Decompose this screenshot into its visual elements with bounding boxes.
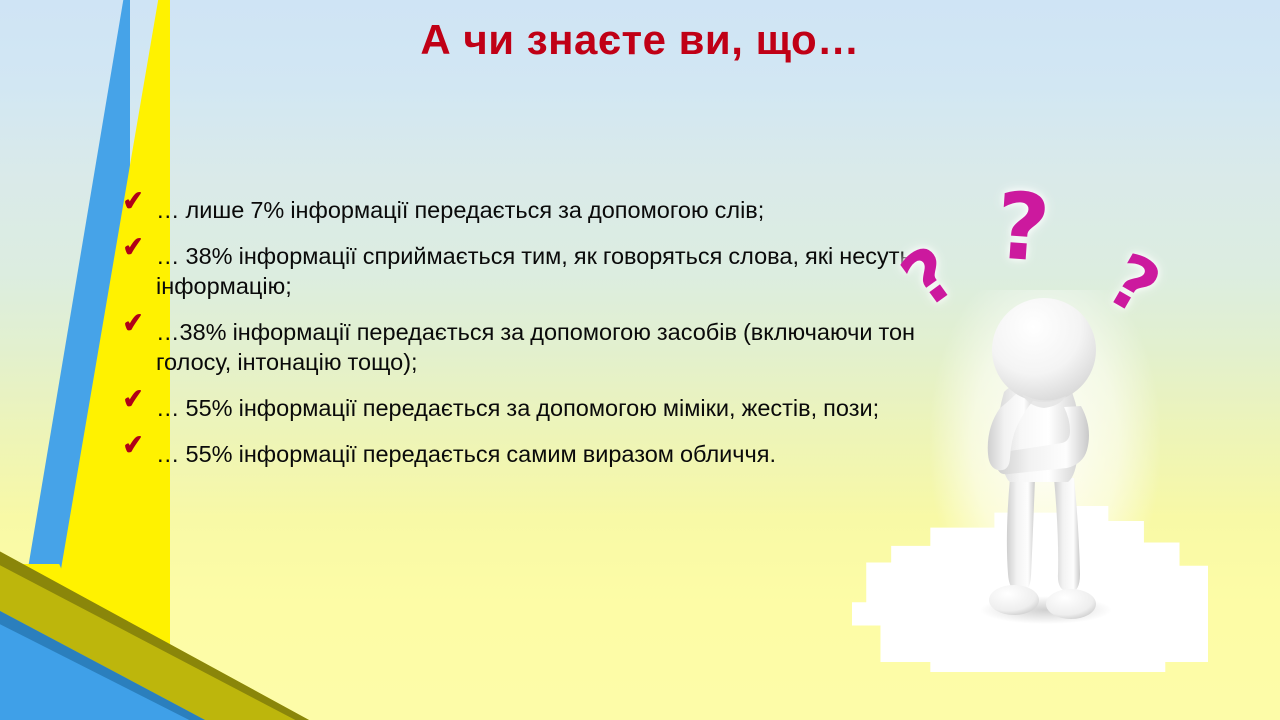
blue-wedge-bottom-left bbox=[0, 553, 220, 720]
list-item-text: … 38% інформації сприймається тим, як го… bbox=[156, 241, 942, 301]
blue-stripe-top-left bbox=[0, 0, 130, 720]
list-item-text: … 55% інформації передається самим вираз… bbox=[156, 439, 942, 469]
bullet-list: ✔ … лише 7% інформації передається за до… bbox=[122, 195, 942, 486]
checkmark-icon: ✔ bbox=[122, 187, 145, 216]
checkmark-icon: ✔ bbox=[122, 386, 145, 415]
checkmark-icon: ✔ bbox=[122, 233, 145, 262]
list-item: ✔ … 38% інформації сприймається тим, як … bbox=[122, 241, 942, 301]
list-item-text: …38% інформації передається за допомогою… bbox=[156, 317, 942, 377]
list-item: ✔ …38% інформації передається за допомог… bbox=[122, 317, 942, 377]
list-item: ✔ … лише 7% інформації передається за до… bbox=[122, 195, 942, 225]
slide-canvas: А чи знаєте ви, що… ✔ … лише 7% інформац… bbox=[0, 0, 1280, 720]
list-item: ✔ … 55% інформації передається за допомо… bbox=[122, 393, 942, 423]
list-item: ✔ … 55% інформації передається самим вир… bbox=[122, 439, 942, 469]
checkmark-icon: ✔ bbox=[122, 432, 145, 461]
thinking-person-figure bbox=[938, 296, 1154, 632]
olive-wedge-edge bbox=[0, 526, 320, 720]
slide-title: А чи знаєте ви, що… bbox=[0, 16, 1280, 64]
list-item-text: … 55% інформації передається за допомого… bbox=[156, 393, 942, 423]
blue-wedge-edge bbox=[0, 553, 220, 720]
yellow-corner-patch bbox=[0, 564, 90, 634]
checkmark-icon: ✔ bbox=[122, 309, 145, 338]
question-mark-icon: ? bbox=[993, 180, 1053, 275]
list-item-text: … лише 7% інформації передається за допо… bbox=[156, 195, 942, 225]
olive-wedge-bottom-left bbox=[0, 526, 320, 720]
